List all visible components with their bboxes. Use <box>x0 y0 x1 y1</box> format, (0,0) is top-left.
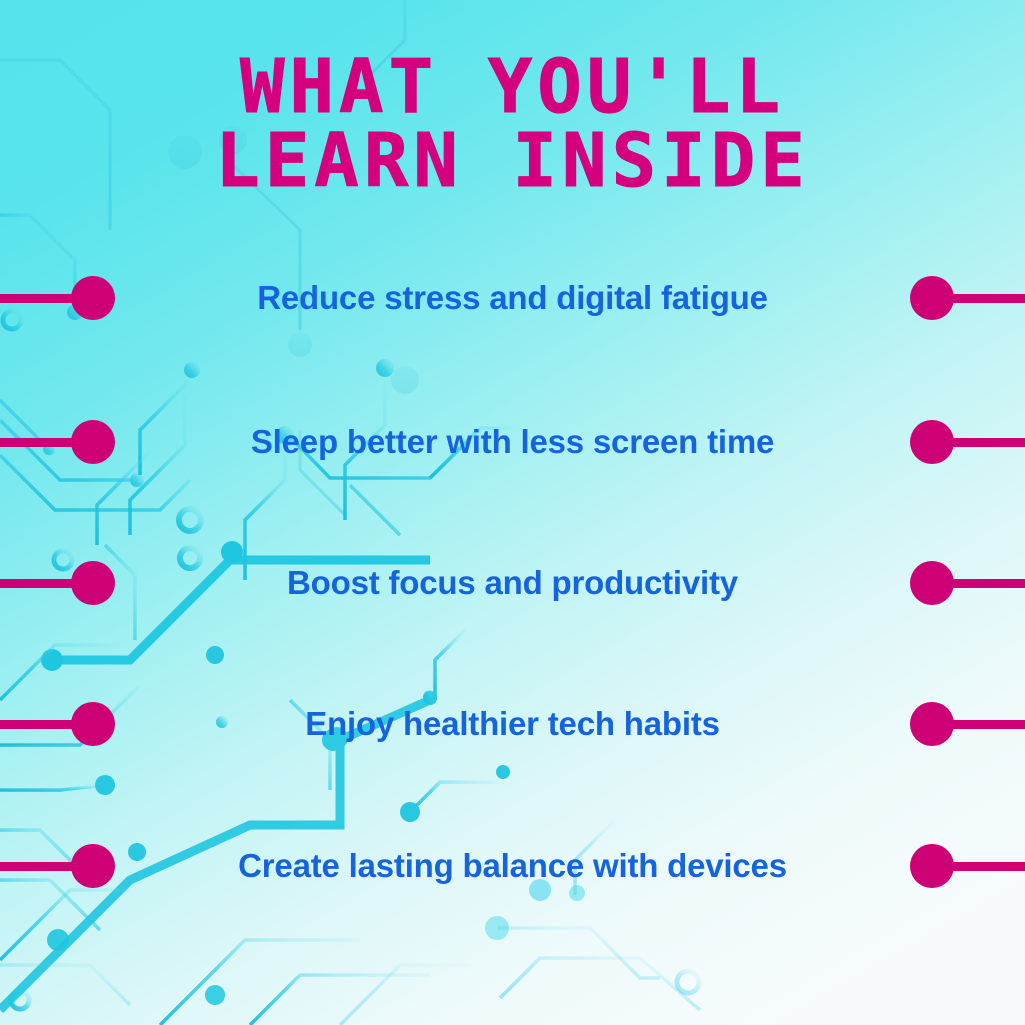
connector-right <box>910 701 1025 747</box>
connector-dot-icon <box>910 844 954 888</box>
connector-dot-icon <box>910 561 954 605</box>
connector-line-icon <box>951 579 1025 588</box>
list-item: Boost focus and productivity <box>0 553 1025 613</box>
connector-right <box>910 275 1025 321</box>
connector-dot-icon <box>910 276 954 320</box>
connector-right <box>910 419 1025 465</box>
connector-line-icon <box>951 862 1025 871</box>
connector-right <box>910 560 1025 606</box>
list-item: Reduce stress and digital fatigue <box>0 268 1025 328</box>
page-title: WHAT YOU'LL LEARN INSIDE <box>0 52 1025 196</box>
list-item: Sleep better with less screen time <box>0 412 1025 472</box>
poster-canvas: WHAT YOU'LL LEARN INSIDE Reduce stress a… <box>0 0 1025 1025</box>
connector-dot-icon <box>910 420 954 464</box>
connector-line-icon <box>951 294 1025 303</box>
benefit-text: Sleep better with less screen time <box>0 412 1025 472</box>
benefit-text: Enjoy healthier tech habits <box>0 694 1025 754</box>
connector-right <box>910 843 1025 889</box>
list-item: Enjoy healthier tech habits <box>0 694 1025 754</box>
title-line-1: WHAT YOU'LL <box>0 52 1025 122</box>
connector-dot-icon <box>910 702 954 746</box>
list-item: Create lasting balance with devices <box>0 836 1025 896</box>
circuit-traces-main <box>0 215 700 1025</box>
title-line-2: LEARN INSIDE <box>0 126 1025 196</box>
benefit-text: Create lasting balance with devices <box>0 836 1025 896</box>
benefit-text: Boost focus and productivity <box>0 553 1025 613</box>
connector-line-icon <box>951 438 1025 447</box>
benefit-text: Reduce stress and digital fatigue <box>0 268 1025 328</box>
connector-line-icon <box>951 720 1025 729</box>
